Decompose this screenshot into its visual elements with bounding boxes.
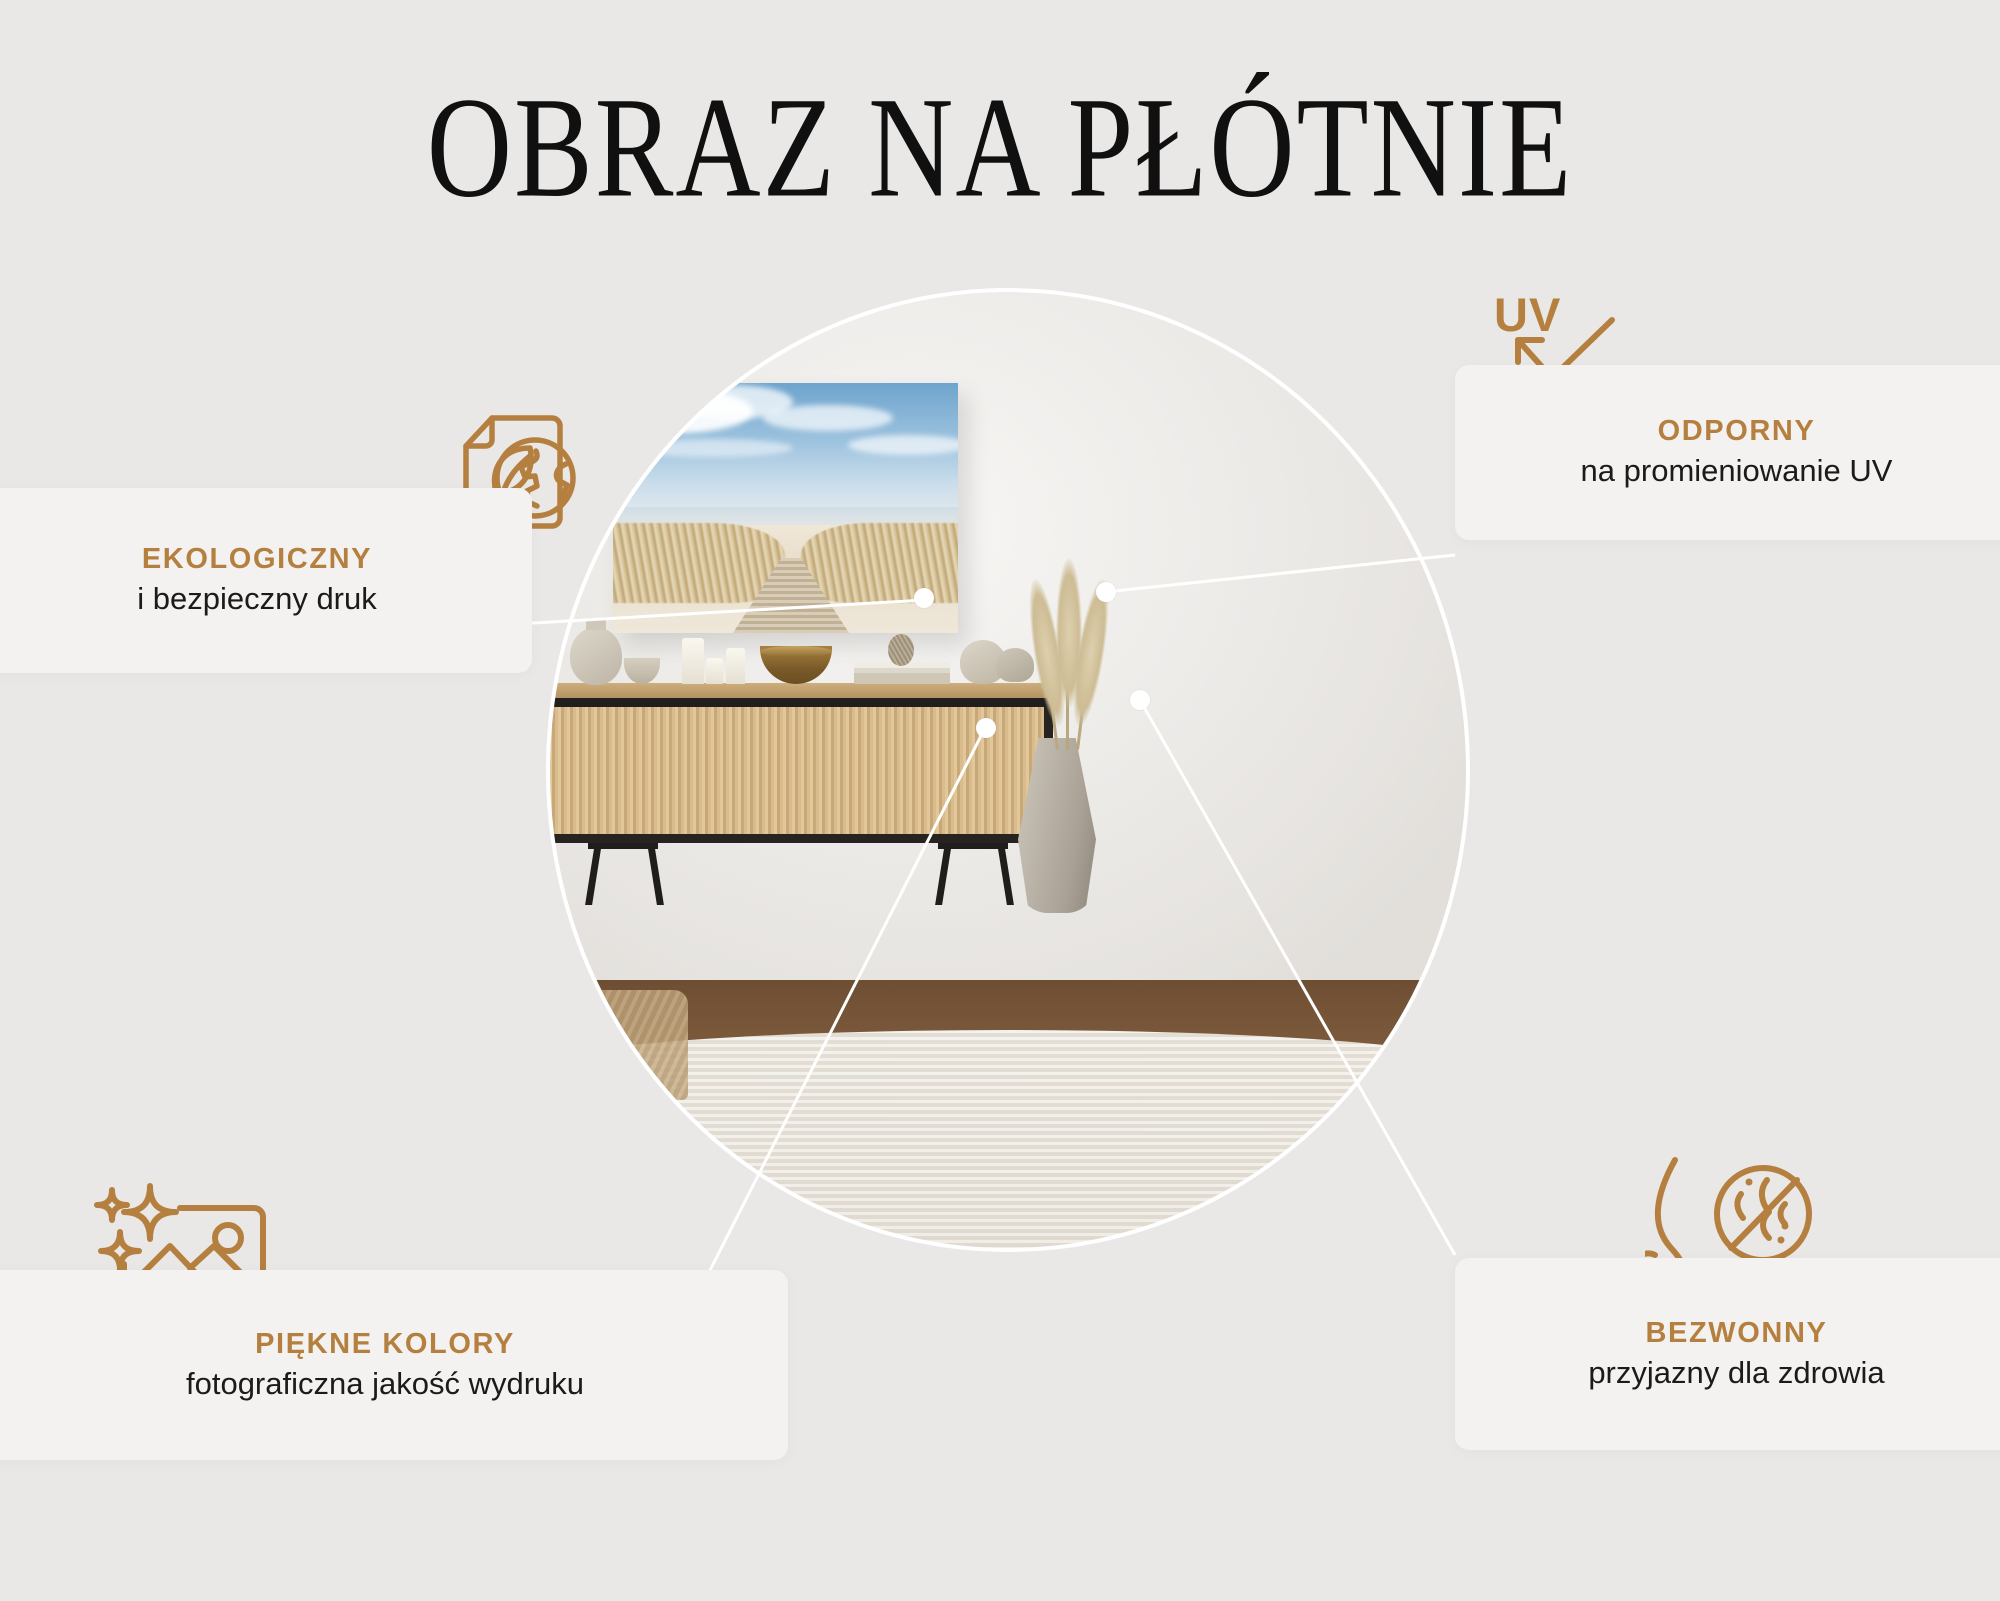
feature-heading-colors: PIĘKNE KOLORY bbox=[186, 1326, 584, 1362]
brass-bowl-rim bbox=[760, 646, 832, 657]
infographic-canvas: OBRAZ NA PŁÓTNIE bbox=[0, 0, 2000, 1601]
connector-dot bbox=[914, 588, 934, 608]
sideboard-top bbox=[548, 683, 1053, 699]
feature-description-colors: fotograficzna jakość wydruku bbox=[186, 1364, 584, 1404]
dune-grass-right bbox=[801, 523, 958, 603]
ceramic-vase bbox=[570, 627, 622, 685]
ceramic-pot bbox=[996, 648, 1034, 682]
connector-dot bbox=[976, 718, 996, 738]
sideboard-leg bbox=[935, 843, 952, 905]
pillar-candle bbox=[706, 658, 723, 684]
feature-card-uv[interactable]: ODPORNY na promieniowanie UV bbox=[1455, 365, 2000, 540]
feature-description-eco: i bezpieczny druk bbox=[137, 579, 377, 619]
connector-dot bbox=[1096, 582, 1116, 602]
sideboard-leg bbox=[585, 843, 602, 905]
cloud-shape bbox=[763, 405, 893, 431]
feature-description-uv: na promieniowanie UV bbox=[1581, 451, 1893, 491]
uv-icon-label: UV bbox=[1494, 287, 1561, 342]
cloud-shape bbox=[633, 439, 793, 457]
feature-card-colors[interactable]: PIĘKNE KOLORY fotograficzna jakość wydru… bbox=[0, 1270, 788, 1460]
feature-card-eco[interactable]: EKOLOGICZNY i bezpieczny druk bbox=[0, 488, 532, 673]
feature-card-odorless[interactable]: BEZWONNY przyjazny dla zdrowia bbox=[1455, 1258, 2000, 1450]
feature-heading-uv: ODPORNY bbox=[1581, 413, 1893, 449]
page-title: OBRAZ NA PŁÓTNIE bbox=[0, 76, 2000, 220]
sideboard-leg bbox=[997, 843, 1014, 905]
cloud-shape bbox=[848, 435, 958, 455]
room-scene bbox=[548, 290, 1468, 1250]
canvas-artwork bbox=[613, 383, 958, 633]
pillar-candle bbox=[682, 638, 704, 684]
dune-grass-left bbox=[613, 523, 785, 603]
feature-heading-odorless: BEZWONNY bbox=[1588, 1315, 1884, 1351]
pillar-candle bbox=[726, 648, 745, 684]
feature-description-odorless: przyjazny dla zdrowia bbox=[1588, 1353, 1884, 1393]
feature-heading-eco: EKOLOGICZNY bbox=[137, 541, 377, 577]
connector-dot bbox=[1130, 690, 1150, 710]
vase-neck bbox=[586, 618, 606, 630]
sideboard bbox=[548, 683, 1468, 913]
textured-stone bbox=[888, 634, 914, 666]
woven-basket bbox=[568, 990, 688, 1100]
sideboard-leg bbox=[647, 843, 664, 905]
